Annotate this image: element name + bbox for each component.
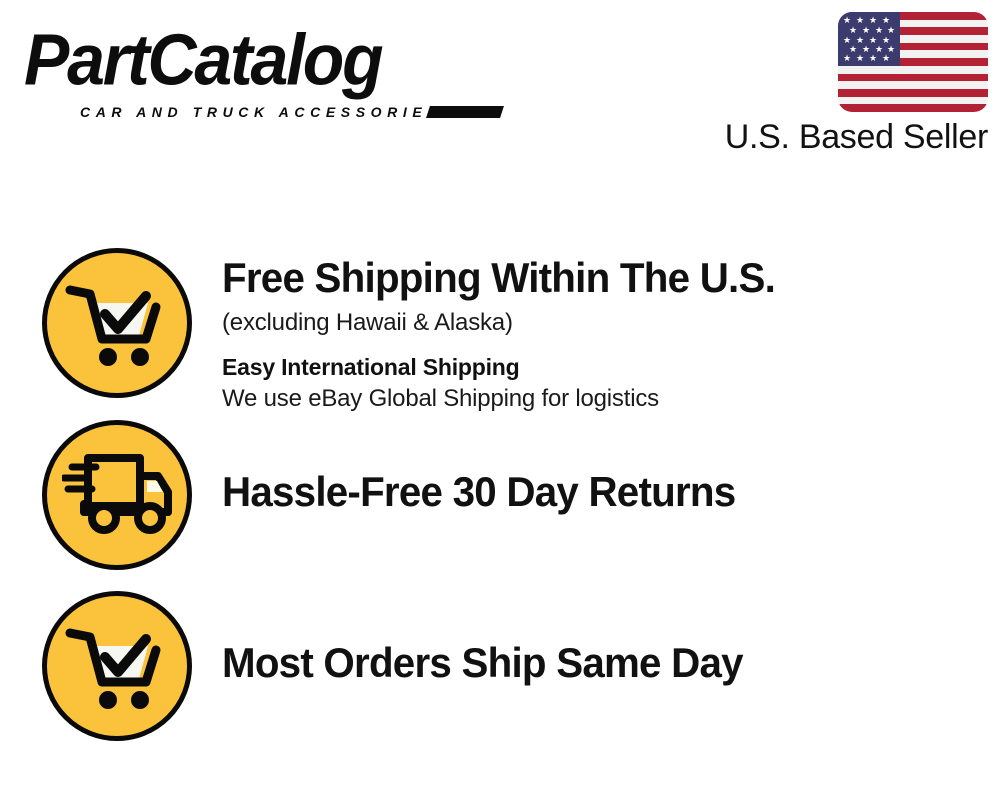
flag-stripe: [838, 97, 988, 105]
feature-text-same-day: Most Orders Ship Same Day: [222, 639, 992, 687]
delivery-truck-icon: [42, 420, 192, 570]
us-based-seller-label: U.S. Based Seller: [708, 116, 988, 158]
promo-banner: PartCatalog CAR AND TRUCK ACCESSORIES: [0, 0, 1000, 800]
flag-stripe: [838, 89, 988, 97]
feature-title: Hassle-Free 30 Day Returns: [222, 468, 961, 516]
feature-note: (excluding Hawaii & Alaska): [222, 308, 992, 338]
feature-title: Most Orders Ship Same Day: [222, 639, 961, 687]
flag-stripe: [838, 81, 988, 89]
shopping-cart-check-icon: [42, 591, 192, 741]
feature-sub-title: Easy International Shipping: [222, 352, 992, 382]
flag-stripe: [838, 74, 988, 82]
feature-sub-text: We use eBay Global Shipping for logistic…: [222, 384, 992, 414]
flag-stripe: [838, 104, 988, 112]
shopping-cart-check-icon: [42, 248, 192, 398]
brand-underline-swoosh: [426, 106, 504, 118]
brand-logo: PartCatalog CAR AND TRUCK ACCESSORIES: [24, 22, 494, 117]
feature-text-returns: Hassle-Free 30 Day Returns: [222, 468, 992, 516]
us-based-seller-badge: ★ ★ ★ ★ ★ ★ ★ ★ ★ ★ ★ ★ ★ ★ ★ ★ ★: [708, 12, 988, 157]
flag-stripe: [838, 66, 988, 74]
feature-title: Free Shipping Within The U.S.: [222, 254, 961, 302]
brand-wordmark: PartCatalog: [24, 22, 494, 98]
brand-tagline: CAR AND TRUCK ACCESSORIES: [80, 104, 442, 120]
banner-header: PartCatalog CAR AND TRUCK ACCESSORIES: [0, 0, 1000, 170]
feature-text-free-shipping: Free Shipping Within The U.S. (excluding…: [222, 254, 992, 414]
us-flag-icon: ★ ★ ★ ★ ★ ★ ★ ★ ★ ★ ★ ★ ★ ★ ★ ★ ★: [838, 12, 988, 112]
flag-canton: ★ ★ ★ ★ ★ ★ ★ ★ ★ ★ ★ ★ ★ ★ ★ ★ ★: [838, 12, 900, 66]
